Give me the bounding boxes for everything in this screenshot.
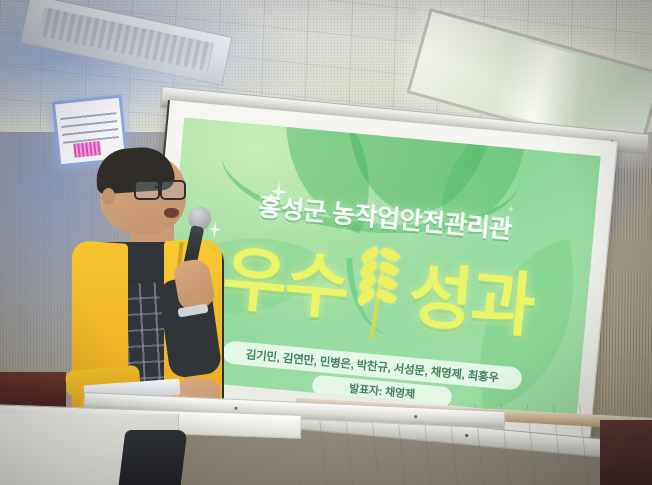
glasses-bridge bbox=[155, 186, 162, 188]
floor-dark-area bbox=[600, 420, 652, 485]
wheat-stalk-icon bbox=[347, 242, 410, 343]
rail-screw bbox=[414, 415, 417, 418]
sign-text-lines bbox=[60, 107, 118, 144]
headline-word-left: 우수 bbox=[219, 237, 351, 330]
eyeglasses-icon bbox=[134, 180, 184, 197]
lens-right bbox=[160, 180, 186, 200]
ear bbox=[102, 188, 115, 205]
lens-left bbox=[134, 180, 160, 200]
light-glow bbox=[493, 38, 590, 132]
screenshot-root: 홍성군 농작업안전관리관 우수 성과 bbox=[0, 0, 652, 485]
rail-screw bbox=[234, 407, 237, 410]
chair bbox=[119, 430, 188, 485]
mouth bbox=[164, 208, 179, 218]
headline-word-right: 성과 bbox=[405, 254, 537, 347]
